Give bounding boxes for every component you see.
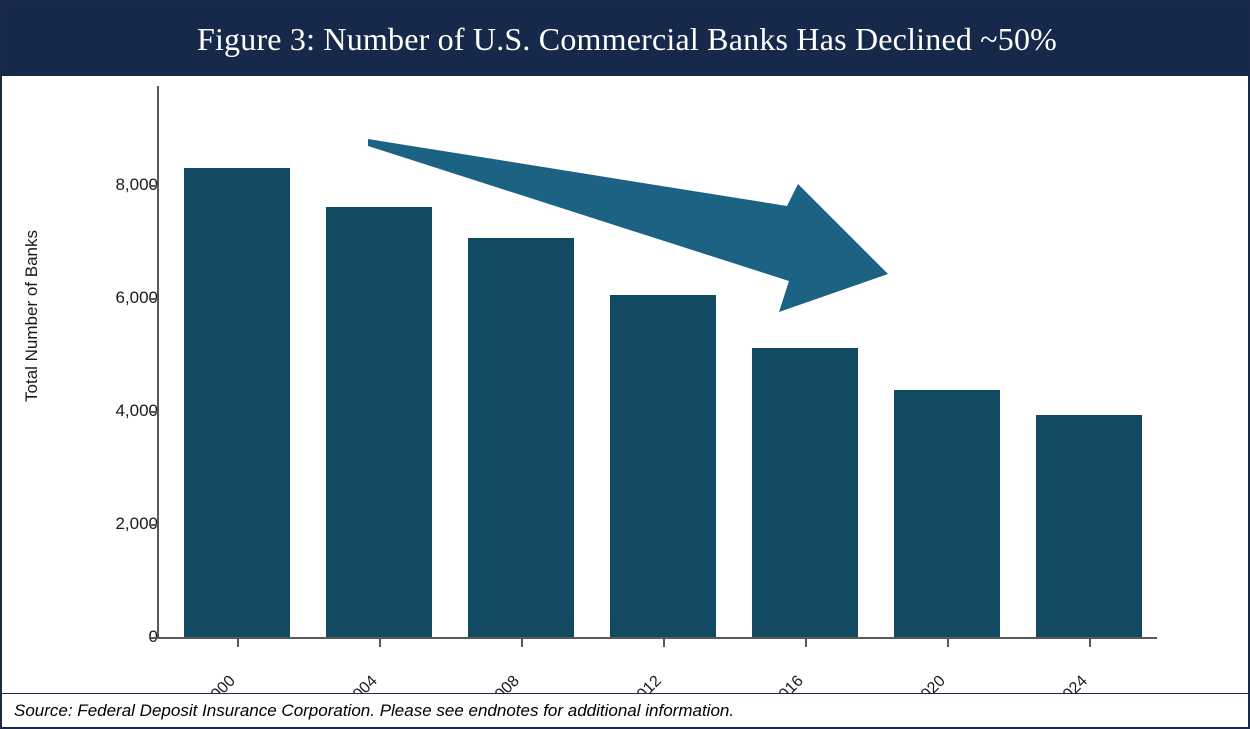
x-axis-line	[157, 637, 1157, 639]
chart-plot-area: Total Number of Banks 0 2,000 4,000 6,00…	[2, 76, 1248, 697]
y-axis-line	[157, 86, 159, 639]
bar-2012	[610, 295, 716, 637]
x-tick-mark-2016	[805, 638, 807, 647]
y-tick-mark-0	[149, 637, 158, 639]
arrow-shape	[368, 139, 888, 312]
y-tick-label: 0	[48, 627, 158, 647]
page-title: Figure 3: Number of U.S. Commercial Bank…	[197, 21, 1057, 58]
bar-2020	[894, 390, 1000, 637]
x-tick-mark-2004	[379, 638, 381, 647]
x-tick-mark-2024	[1089, 638, 1091, 647]
source-note: Source: Federal Deposit Insurance Corpor…	[2, 701, 734, 721]
source-note-bar: Source: Federal Deposit Insurance Corpor…	[2, 693, 1248, 727]
x-tick-mark-2000	[237, 638, 239, 647]
y-axis-title: Total Number of Banks	[22, 116, 42, 516]
y-tick-label: 8,000	[48, 175, 158, 195]
bar-2016	[752, 348, 858, 637]
y-tick-label: 6,000	[48, 288, 158, 308]
bar-2004	[326, 207, 432, 637]
y-tick-mark-2000	[149, 524, 158, 526]
bar-2000	[184, 168, 290, 637]
figure-container: Figure 3: Number of U.S. Commercial Bank…	[0, 0, 1250, 729]
x-tick-mark-2012	[663, 638, 665, 647]
bar-2008	[468, 238, 574, 637]
y-tick-label: 2,000	[48, 514, 158, 534]
y-tick-mark-6000	[149, 298, 158, 300]
x-tick-mark-2020	[947, 638, 949, 647]
x-tick-mark-2008	[521, 638, 523, 647]
bar-2024	[1036, 415, 1142, 637]
y-tick-label: 4,000	[48, 401, 158, 421]
figure-header-band: Figure 3: Number of U.S. Commercial Bank…	[2, 2, 1250, 76]
y-tick-mark-8000	[149, 185, 158, 187]
y-tick-mark-4000	[149, 411, 158, 413]
